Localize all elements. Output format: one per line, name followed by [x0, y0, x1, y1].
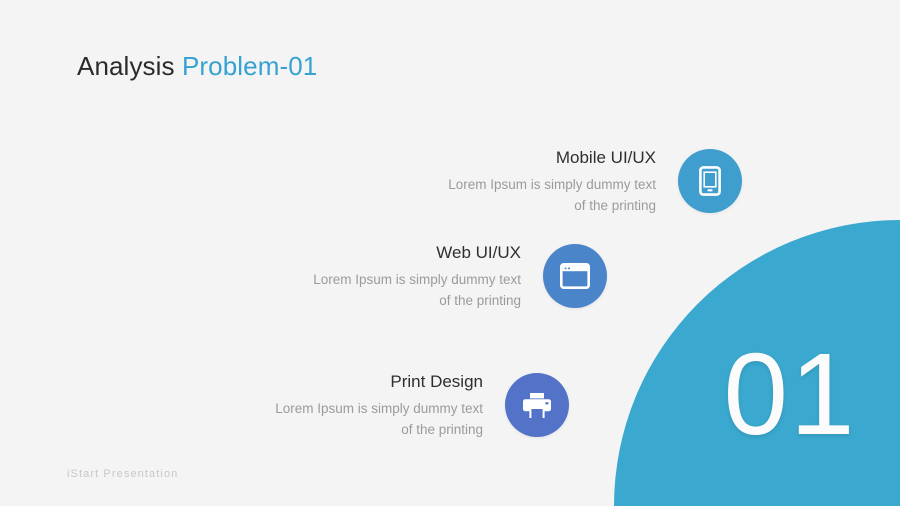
feature-item-text-block: Print Design Lorem Ipsum is simply dummy… — [275, 370, 505, 440]
feature-item-text-block: Mobile UI/UX Lorem Ipsum is simply dummy… — [448, 146, 678, 216]
feature-item-print[interactable]: Print Design Lorem Ipsum is simply dummy… — [157, 370, 569, 440]
slide-number: 01 — [700, 336, 880, 452]
feature-item-body: Lorem Ipsum is simply dummy text of the … — [313, 269, 521, 311]
feature-item-body-line-2: of the printing — [448, 195, 656, 216]
slide-canvas: 01 Analysis Problem-01 Mobile UI/UX Lore… — [0, 0, 900, 506]
feature-item-web[interactable]: Web UI/UX Lorem Ipsum is simply dummy te… — [195, 241, 607, 311]
feature-item-heading: Print Design — [275, 370, 483, 393]
feature-item-body: Lorem Ipsum is simply dummy text of the … — [448, 174, 656, 216]
printer-icon — [522, 392, 552, 419]
page-title: Analysis Problem-01 — [77, 49, 317, 83]
feature-item-text-block: Web UI/UX Lorem Ipsum is simply dummy te… — [313, 241, 543, 311]
feature-item-body-line-2: of the printing — [313, 290, 521, 311]
page-title-accent: Problem-01 — [182, 51, 317, 81]
feature-item-body: Lorem Ipsum is simply dummy text of the … — [275, 398, 483, 440]
feature-item-heading: Mobile UI/UX — [448, 146, 656, 169]
mobile-phone-icon — [699, 166, 721, 196]
page-title-main: Analysis — [77, 51, 175, 81]
feature-item-mobile[interactable]: Mobile UI/UX Lorem Ipsum is simply dummy… — [330, 146, 742, 216]
feature-item-heading: Web UI/UX — [313, 241, 521, 264]
feature-item-body-line-1: Lorem Ipsum is simply dummy text — [448, 174, 656, 195]
browser-window-icon — [560, 263, 590, 289]
feature-item-body-line-1: Lorem Ipsum is simply dummy text — [275, 398, 483, 419]
feature-item-body-line-2: of the printing — [275, 419, 483, 440]
feature-item-icon-circle[interactable] — [678, 149, 742, 213]
feature-item-icon-circle[interactable] — [543, 244, 607, 308]
footer-brand: iStart Presentation — [67, 466, 178, 482]
feature-item-body-line-1: Lorem Ipsum is simply dummy text — [313, 269, 521, 290]
feature-item-icon-circle[interactable] — [505, 373, 569, 437]
